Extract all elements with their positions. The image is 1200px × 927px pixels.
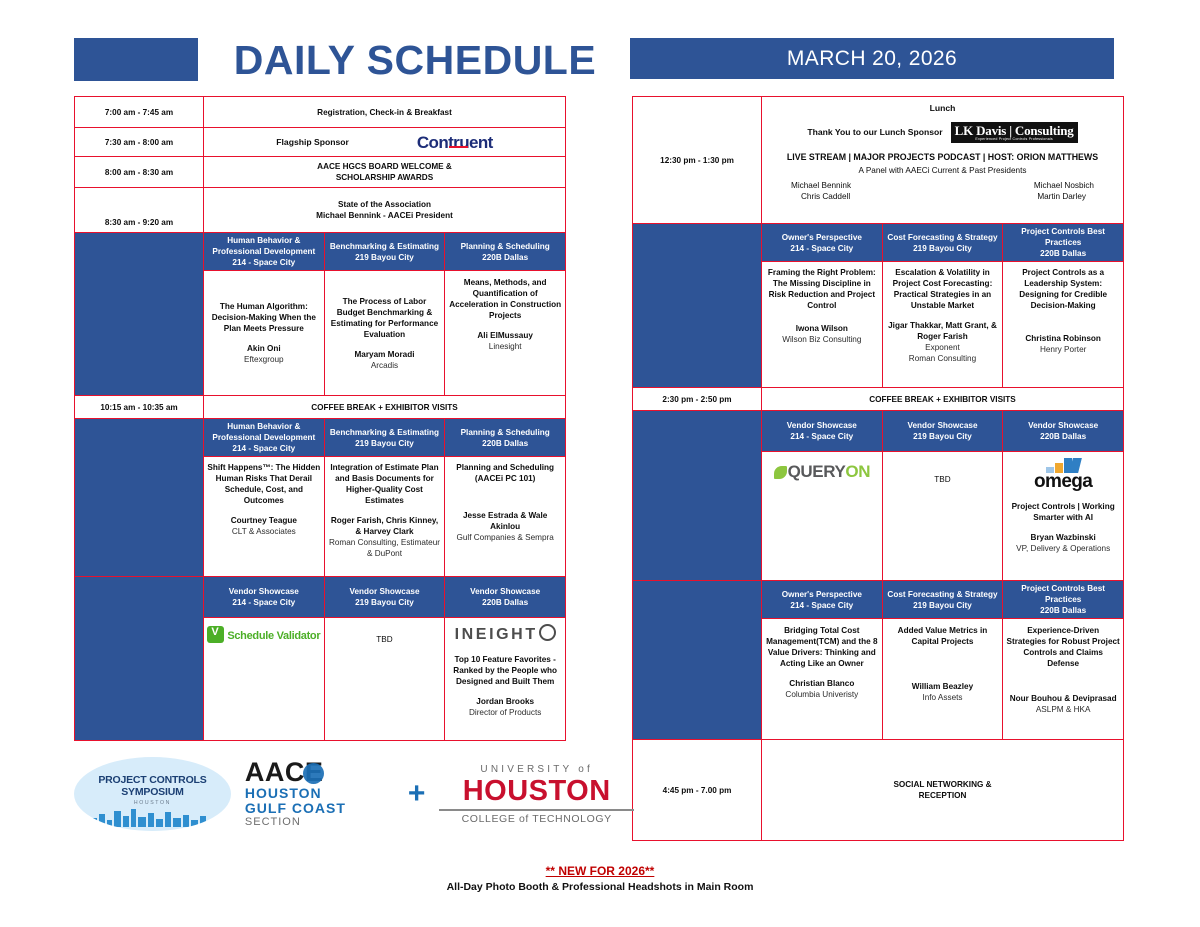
session-escalation-volatility: Escalation & Volatility in Project Cost … (882, 262, 1003, 388)
track-room: 220B Dallas (1040, 249, 1086, 258)
table-row: 7:00 am - 7:45 am Registration, Check-in… (75, 97, 566, 128)
schedule-table-morning: 7:00 am - 7:45 am Registration, Check-in… (74, 96, 566, 741)
table-row: 2:30 pm - 2:50 pm COFFEE BREAK + EXHIBIT… (633, 388, 1124, 411)
vendor-cell-tbd: TBD (882, 452, 1003, 581)
session-speaker: William Beazley (886, 681, 1000, 692)
track-header-vendor-214: Vendor Showcase 214 - Space City (204, 577, 325, 618)
time-slot-0925 (75, 233, 204, 396)
session-speaker: Bryan Wazbinski (1006, 532, 1120, 543)
event-lunch: Lunch Thank You to our Lunch Sponsor LK … (762, 97, 1124, 224)
livestream-line: LIVE STREAM | MAJOR PROJECTS PODCAST | H… (765, 152, 1120, 163)
session-org: Exponent Roman Consulting (886, 342, 1000, 364)
session-speaker: Courtney Teague (207, 515, 321, 526)
session-title: Shift Happens™: The Hidden Human Risks T… (207, 462, 321, 506)
time-slot: 8:30 am - 9:20 am (75, 188, 204, 233)
track-line2: Practices (1045, 595, 1081, 604)
session-speaker: Christian Blanco (765, 678, 879, 689)
header-blue-block (74, 38, 198, 81)
track-header-benchmarking: Benchmarking & Estimating 219 Bayou City (324, 419, 445, 457)
lunch-label: Lunch (765, 103, 1120, 114)
page-header: DAILY SCHEDULE MARCH 20, 2026 (0, 38, 1200, 84)
session-speaker: Maryam Moradi (328, 349, 442, 360)
time-slot: 2:30 pm - 2:50 pm (633, 388, 762, 411)
schedule-table-afternoon: 12:30 pm - 1:30 pm Lunch Thank You to ou… (632, 96, 1124, 841)
session-labor-budget: The Process of Labor Budget Benchmarking… (324, 271, 445, 396)
session-speaker: Iwona Wilson (765, 323, 879, 334)
session-bridging-tcm: Bridging Total Cost Management(TCM) and … (762, 619, 883, 740)
session-org: Info Assets (886, 692, 1000, 703)
table-row: 4:45 pm - 7.00 pm SOCIAL NETWORKING & RE… (633, 740, 1124, 841)
session-org: CLT & Associates (207, 526, 321, 537)
session-speaker: Akin Oni (207, 343, 321, 354)
time-slot-1040 (75, 419, 204, 577)
leaf-icon (774, 466, 787, 479)
track-line1: Vendor Showcase (229, 587, 299, 596)
page-title: DAILY SCHEDULE (210, 34, 620, 86)
new-for-2026-note: ** NEW FOR 2026** All-Day Photo Booth & … (0, 862, 1200, 895)
social-line2: RECEPTION (919, 791, 967, 800)
time-slot: 7:00 am - 7:45 am (75, 97, 204, 128)
track-line1: Planning & Scheduling (461, 242, 550, 251)
track-header-vendor-214: Vendor Showcase 214 - Space City (762, 411, 883, 452)
session-org: Linesight (448, 341, 562, 352)
skyline-icon (88, 807, 218, 827)
time-slot: 7:30 am - 8:00 am (75, 128, 204, 157)
session-speaker: Jesse Estrada & Wale Akinlou (448, 510, 562, 532)
session-org: Gulf Companies & Sempra (448, 532, 562, 543)
event-coffee-break: COFFEE BREAK + EXHIBITOR VISITS (762, 388, 1124, 411)
event-board-welcome: AACE HGCS BOARD WELCOME & SCHOLARSHIP AW… (204, 157, 566, 188)
track-room: 220B Dallas (482, 253, 528, 262)
track-header-planning: Planning & Scheduling 220B Dallas (445, 233, 566, 271)
track-header-benchmarking: Benchmarking & Estimating 219 Bayou City (324, 233, 445, 271)
session-title: Added Value Metrics in Capital Projects (886, 625, 1000, 647)
omega-logo: omega (1006, 463, 1120, 491)
track-line1: Vendor Showcase (470, 587, 540, 596)
track-line1: Vendor Showcase (907, 421, 977, 430)
session-org: Roman Consulting, Estimateur & DuPont (328, 537, 442, 559)
track-header-owners-perspective: Owner's Perspective 214 - Space City (762, 581, 883, 619)
vendor-cell-omega: omega Project Controls | Working Smarter… (1003, 452, 1124, 581)
event-flagship-sponsor: Flagship Sponsor Contruent (204, 128, 566, 157)
track-room: 214 - Space City (232, 598, 295, 607)
session-human-algorithm: The Human Algorithm: Decision-Making Whe… (204, 271, 325, 396)
table-row: 8:00 am - 8:30 am AACE HGCS BOARD WELCOM… (75, 157, 566, 188)
aace-houston-gulf-coast-logo: AACE HOUSTON GULF COAST SECTION (245, 759, 394, 829)
session-framing-right-problem: Framing the Right Problem: The Missing D… (762, 262, 883, 388)
track-room: 219 Bayou City (355, 439, 414, 448)
session-added-value-metrics: Added Value Metrics in Capital Projects … (882, 619, 1003, 740)
track-room: 219 Bayou City (355, 598, 414, 607)
track-line1: Benchmarking & Estimating (330, 428, 439, 437)
track-header-vendor-220b: Vendor Showcase 220B Dallas (1003, 411, 1124, 452)
track-header-project-controls-best: Project Controls Best Practices 220B Dal… (1003, 224, 1124, 262)
flagship-sponsor-label: Flagship Sponsor (276, 137, 349, 148)
track-line1: Vendor Showcase (787, 421, 857, 430)
track-line2: Professional Development (212, 433, 315, 442)
time-slot: 8:00 am - 8:30 am (75, 157, 204, 188)
track-header-owners-perspective: Owner's Perspective 214 - Space City (762, 224, 883, 262)
event-coffee-break: COFFEE BREAK + EXHIBITOR VISITS (204, 396, 566, 419)
session-org: VP, Delivery & Operations (1006, 543, 1120, 554)
panel-line: A Panel with AAECi Current & Past Presid… (765, 165, 1120, 176)
session-title: Project Controls as a Leadership System:… (1006, 267, 1120, 311)
panelist: Chris Caddell (791, 191, 851, 202)
time-slot: 10:15 am - 10:35 am (75, 396, 204, 419)
cube-icon (207, 626, 224, 643)
track-line1: Vendor Showcase (1028, 421, 1098, 430)
event-state-of-association: State of the Association Michael Bennink… (204, 188, 566, 233)
track-line1: Vendor Showcase (349, 587, 419, 596)
vendor-cell-ineight: INEIGHT Top 10 Feature Favorites - Ranke… (445, 618, 566, 741)
time-slot: 12:30 pm - 1:30 pm (633, 97, 762, 224)
session-org: Wilson Biz Consulting (765, 334, 879, 345)
track-header-human-behavior: Human Behavior & Professional Developmen… (204, 233, 325, 271)
session-org: Arcadis (328, 360, 442, 371)
track-header-project-controls-best: Project Controls Best Practices 220B Dal… (1003, 581, 1124, 619)
table-row-track-headers: Owner's Perspective 214 - Space City Cos… (633, 581, 1124, 619)
track-line1: Cost Forecasting & Strategy (887, 590, 997, 599)
session-title: Bridging Total Cost Management(TCM) and … (765, 625, 879, 669)
note-detail: All-Day Photo Booth & Professional Heads… (0, 880, 1200, 895)
table-row-track-headers: Vendor Showcase 214 - Space City Vendor … (633, 411, 1124, 452)
session-title: Framing the Right Problem: The Missing D… (765, 267, 879, 311)
session-speaker: Jigar Thakkar, Matt Grant, & Roger Faris… (886, 320, 1000, 342)
session-title: Planning and Scheduling (AACEi PC 101) (448, 462, 562, 484)
ineight-logo: INEIGHT (455, 626, 556, 643)
session-experience-driven: Experience-Driven Strategies for Robust … (1003, 619, 1124, 740)
session-speaker: Christina Robinson (1006, 333, 1120, 344)
session-estimate-plan: Integration of Estimate Plan and Basis D… (324, 457, 445, 577)
session-org: Eftexgroup (207, 354, 321, 365)
session-speaker: Ali ElMussauy (448, 330, 562, 341)
track-header-vendor-220b: Vendor Showcase 220B Dallas (445, 577, 566, 618)
session-title: Project Controls | Working Smarter with … (1006, 501, 1120, 523)
session-title: Means, Methods, and Quantification of Ac… (448, 277, 562, 321)
vendor-cell-schedule-validator: Schedule Validator (204, 618, 325, 741)
date-banner: MARCH 20, 2026 (630, 38, 1114, 79)
track-room: 220B Dallas (482, 598, 528, 607)
table-row-track-headers: Vendor Showcase 214 - Space City Vendor … (75, 577, 566, 618)
social-line1: SOCIAL NETWORKING & (893, 780, 991, 789)
state-assoc-line1: State of the Association (338, 200, 431, 209)
session-org: Henry Porter (1006, 344, 1120, 355)
track-room: 220B Dallas (1040, 606, 1086, 615)
table-row: 7:30 am - 8:00 am Flagship Sponsor Contr… (75, 128, 566, 157)
track-header-human-behavior: Human Behavior & Professional Developmen… (204, 419, 325, 457)
table-row-track-headers: Human Behavior & Professional Developmen… (75, 419, 566, 457)
track-room: 219 Bayou City (355, 253, 414, 262)
track-header-vendor-219: Vendor Showcase 219 Bayou City (324, 577, 445, 618)
session-speaker: Roger Farish, Chris Kinney, & Harvey Cla… (328, 515, 442, 537)
table-row: 8:30 am - 9:20 am State of the Associati… (75, 188, 566, 233)
panelist: Michael Nosbich (1034, 180, 1094, 191)
session-org: Director of Products (448, 707, 562, 718)
event-social-networking: SOCIAL NETWORKING & RECEPTION (762, 740, 1124, 841)
panelist: Michael Bennink (791, 180, 851, 191)
schedule-validator-logo: Schedule Validator (207, 632, 320, 641)
session-speaker: Jordan Brooks (448, 696, 562, 707)
track-line1: Benchmarking & Estimating (330, 242, 439, 251)
track-line2: Practices (1045, 238, 1081, 247)
track-line1: Owner's Perspective (782, 590, 862, 599)
track-line1: Project Controls Best (1021, 227, 1105, 236)
track-room: 214 - Space City (232, 444, 295, 453)
divider (439, 809, 634, 811)
footer-logo-strip: PROJECT CONTROLS SYMPOSIUM HOUSTON (74, 748, 634, 840)
session-means-methods: Means, Methods, and Quantification of Ac… (445, 271, 566, 396)
track-line1: Project Controls Best (1021, 584, 1105, 593)
session-speaker: Nour Bouhou & Deviprasad (1006, 693, 1120, 704)
university-of-houston-logo: UNIVERSITY of HOUSTON COLLEGE of TECHNOL… (439, 764, 634, 825)
vendor-cell-tbd: TBD (324, 618, 445, 741)
track-room: 219 Bayou City (913, 244, 972, 253)
track-room: 219 Bayou City (913, 601, 972, 610)
session-title: Integration of Estimate Plan and Basis D… (328, 462, 442, 506)
ineight-mark-icon (539, 624, 556, 641)
table-row-track-headers: Owner's Perspective 214 - Space City Cos… (633, 224, 1124, 262)
state-assoc-line2: Michael Bennink - AACEi President (316, 211, 453, 220)
time-slot-0350 (633, 581, 762, 740)
queryon-logo: QUERYON (774, 462, 871, 481)
session-planning-pc101: Planning and Scheduling (AACEi PC 101) J… (445, 457, 566, 577)
track-room: 214 - Space City (232, 258, 295, 267)
track-room: 214 - Space City (790, 432, 853, 441)
panelist: Martin Darley (1034, 191, 1094, 202)
track-line1: Owner's Perspective (782, 233, 862, 242)
session-title: The Process of Labor Budget Benchmarking… (328, 296, 442, 340)
session-title: Experience-Driven Strategies for Robust … (1006, 625, 1120, 669)
session-org: Columbia Univeristy (765, 689, 879, 700)
track-line2: Professional Development (212, 247, 315, 256)
table-row: 10:15 am - 10:35 am COFFEE BREAK + EXHIB… (75, 396, 566, 419)
project-controls-symposium-logo: PROJECT CONTROLS SYMPOSIUM HOUSTON (74, 757, 231, 831)
time-slot-1135 (75, 577, 204, 741)
plus-separator: + (408, 779, 426, 809)
session-title: The Human Algorithm: Decision-Making Whe… (207, 301, 321, 334)
session-leadership-system: Project Controls as a Leadership System:… (1003, 262, 1124, 388)
board-welcome-line1: AACE HGCS BOARD WELCOME & (317, 162, 452, 171)
track-header-planning: Planning & Scheduling 220B Dallas (445, 419, 566, 457)
track-room: 220B Dallas (482, 439, 528, 448)
track-header-cost-forecasting: Cost Forecasting & Strategy 219 Bayou Ci… (882, 581, 1003, 619)
vendor-cell-queryon: QUERYON (762, 452, 883, 581)
time-slot-0255 (633, 411, 762, 581)
track-line1: Planning & Scheduling (461, 428, 550, 437)
session-title: Escalation & Volatility in Project Cost … (886, 267, 1000, 311)
track-room: 214 - Space City (790, 244, 853, 253)
track-line1: Cost Forecasting & Strategy (887, 233, 997, 242)
lunch-sponsor-thanks: Thank You to our Lunch Sponsor (807, 127, 942, 138)
session-shift-happens: Shift Happens™: The Hidden Human Risks T… (204, 457, 325, 577)
track-line1: Human Behavior & (227, 422, 300, 431)
table-row-track-headers: Human Behavior & Professional Developmen… (75, 233, 566, 271)
table-row: 12:30 pm - 1:30 pm Lunch Thank You to ou… (633, 97, 1124, 224)
board-welcome-line2: SCHOLARSHIP AWARDS (336, 173, 433, 182)
event-registration: Registration, Check-in & Breakfast (204, 97, 566, 128)
session-title: Top 10 Feature Favorites - Ranked by the… (448, 654, 562, 687)
track-header-vendor-219: Vendor Showcase 219 Bayou City (882, 411, 1003, 452)
contruent-logo: Contruent (417, 137, 493, 148)
omega-bars-icon (1046, 458, 1080, 473)
time-slot-0140 (633, 224, 762, 388)
time-slot: 4:45 pm - 7.00 pm (633, 740, 762, 841)
track-room: 214 - Space City (790, 601, 853, 610)
session-org: ASLPM & HKA (1006, 704, 1120, 715)
track-room: 219 Bayou City (913, 432, 972, 441)
track-line1: Human Behavior & (227, 236, 300, 245)
track-room: 220B Dallas (1040, 432, 1086, 441)
lk-davis-consulting-logo: LK Davis | Consulting Experienced Projec… (951, 122, 1078, 143)
track-header-cost-forecasting: Cost Forecasting & Strategy 219 Bayou Ci… (882, 224, 1003, 262)
note-headline: ** NEW FOR 2026** (546, 863, 655, 879)
